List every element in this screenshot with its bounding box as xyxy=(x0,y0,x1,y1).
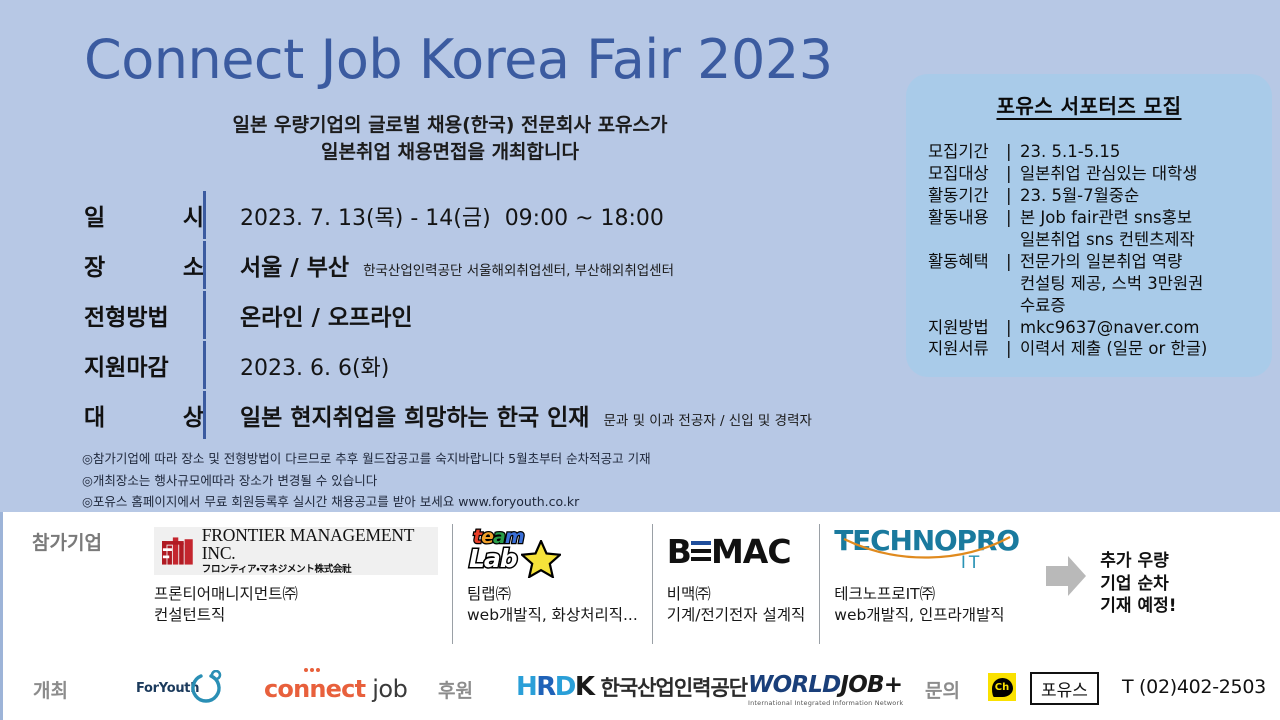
supporters-row: 지원서류 | 이력서 제출 (일문 or 한글) xyxy=(928,338,1272,360)
connect-dots-icon xyxy=(304,668,320,672)
connect-text: connect xyxy=(264,675,365,703)
supporters-row: 지원방법 | mkc9637@naver.com xyxy=(928,317,1272,339)
more-line-3: 기재 예정! xyxy=(1100,595,1176,618)
supporters-value: 23. 5.1-5.15 xyxy=(1020,141,1272,163)
detail-target-note: 문과 및 이과 전공자 / 신입 및 경력자 xyxy=(603,409,811,429)
company-role-frontier: 컨설턴트직 xyxy=(154,605,438,626)
company-role-bemac: 기계/전기전자 설계직 xyxy=(667,605,806,626)
bemac-logo: BMAC xyxy=(667,524,806,578)
worldjob-logo[interactable]: WORLDJOB+ International Integrated Infor… xyxy=(748,672,903,707)
event-details-table: 일 시 2023. 7. 13(목) - 14(금) 09:00 ~ 18:00… xyxy=(84,198,884,448)
contact-phone: T (02)402-2503 xyxy=(1122,676,1266,698)
supporters-value: 23. 5월-7월중순 xyxy=(1020,185,1272,207)
supporters-separator: | xyxy=(1006,317,1020,339)
more-line-1: 추가 우량 xyxy=(1100,550,1176,573)
detail-value-method: 온라인 / 오프라인 xyxy=(204,298,413,332)
label-part-b: 상 xyxy=(183,398,204,432)
star-icon xyxy=(521,540,561,578)
contact-label: 문의 xyxy=(925,676,960,703)
supporters-separator: | xyxy=(1006,141,1020,163)
supporters-separator: | xyxy=(1006,185,1020,207)
company-frontier-management[interactable]: FRONTIER MANAGEMENT INC. フロンティア・マネジメント株式… xyxy=(140,524,452,644)
detail-label-deadline: 지원마감 xyxy=(84,348,204,382)
kakao-bubble-glyph: Ch xyxy=(992,678,1013,697)
supporters-value: 일본취업 관심있는 대학생 xyxy=(1020,163,1272,185)
detail-place: 서울 / 부산 xyxy=(240,248,349,282)
subtitle-line-2: 일본취업 채용면접을 개최합니다 xyxy=(0,139,900,166)
subtitle: 일본 우량기업의 글로벌 채용(한국) 전문회사 포유스가 일본취업 채용면접을… xyxy=(0,112,900,166)
connect-job-logo[interactable]: connect job xyxy=(264,675,407,703)
supporters-key: 모집기간 xyxy=(928,141,1006,163)
right-arrow-icon xyxy=(1042,554,1088,614)
supporters-separator: | xyxy=(1006,163,1020,185)
hrdk-logo-text: 한국산업인력공단 xyxy=(601,672,748,702)
supporters-separator: | xyxy=(1006,251,1020,273)
channel-name-badge[interactable]: 포유스 xyxy=(1030,672,1099,705)
detail-time: 09:00 ~ 18:00 xyxy=(505,206,664,231)
company-technopro-it[interactable]: TECHNOPRO IT 테크노프로IT㈜ web개발직, 인프라개발직 xyxy=(819,524,1026,644)
company-role-technopro: web개발직, 인프라개발직 xyxy=(834,605,1012,626)
label-part-b: 시 xyxy=(183,198,204,232)
detail-row-target: 대 상 일본 현지취업을 희망하는 한국 인재 문과 및 이과 전공자 / 신입… xyxy=(84,398,884,448)
frontier-mark-icon xyxy=(162,536,193,566)
supporters-title: 포유스 서포터즈 모집 xyxy=(906,90,1272,119)
supporters-key: 활동내용 xyxy=(928,207,1006,229)
footnote-2: ◎개최장소는 행사규모에따라 장소가 변경될 수 있습니다 xyxy=(82,470,651,492)
detail-label-place: 장 소 xyxy=(84,248,204,282)
page-title: Connect Job Korea Fair 2023 xyxy=(84,28,833,91)
company-name-frontier: 프론티어매니지먼트㈜ xyxy=(154,584,438,605)
connect-logo-text: connect xyxy=(264,675,365,703)
supporters-email[interactable]: mkc9637@naver.com xyxy=(1020,317,1272,339)
label-part-b: 소 xyxy=(183,248,204,282)
bemac-logo-text: BMAC xyxy=(667,532,791,571)
detail-date: 2023. 7. 13(목) - 14(금) xyxy=(240,200,491,232)
detail-method: 온라인 / 오프라인 xyxy=(240,298,413,332)
detail-label-date: 일 시 xyxy=(84,198,204,232)
job-logo-text: job xyxy=(372,675,407,703)
supporters-value-cont: 일본취업 sns 컨텐츠제작 xyxy=(928,229,1272,251)
teamlab-logo-text-lab: Lab xyxy=(469,544,517,573)
supporters-row: 활동혜택 | 전문가의 일본취업 역량 xyxy=(928,251,1272,273)
supporters-separator: | xyxy=(1006,207,1020,229)
sponsor-bar: 개최 ForYouth connect job 후원 HRDK 한국산업인력공단… xyxy=(0,660,1280,716)
row-divider xyxy=(203,241,206,289)
company-teamlab[interactable]: team Lab 팀랩㈜ web개발직, 화상처리직... xyxy=(452,524,652,644)
kakao-channel-icon[interactable]: Ch xyxy=(988,673,1016,701)
participating-companies-list: FRONTIER MANAGEMENT INC. フロンティア・マネジメント株式… xyxy=(140,524,1140,644)
row-divider xyxy=(203,391,206,439)
supporters-key: 활동기간 xyxy=(928,185,1006,207)
supporters-key: 활동혜택 xyxy=(928,251,1006,273)
detail-place-note: 한국산업인력공단 서울해외취업센터, 부산해외취업센터 xyxy=(363,259,674,279)
frontier-management-logo: FRONTIER MANAGEMENT INC. フロンティア・マネジメント株式… xyxy=(154,524,438,578)
support-label: 후원 xyxy=(438,676,473,703)
more-line-2: 기업 순차 xyxy=(1100,573,1176,596)
foryouth-circle-icon xyxy=(189,670,223,706)
supporters-row: 모집대상 | 일본취업 관심있는 대학생 xyxy=(928,163,1272,185)
frontier-logo-text-jp: フロンティア・マネジメント株式会社 xyxy=(202,565,428,575)
supporters-value-cont: 컨설팅 제공, 스벅 3만원권 xyxy=(928,273,1272,295)
supporters-key: 지원방법 xyxy=(928,317,1006,339)
supporters-row: 모집기간 | 23. 5.1-5.15 xyxy=(928,141,1272,163)
more-companies-text: 추가 우량 기업 순차 기재 예정! xyxy=(1100,550,1176,619)
hrdk-logo-mark: HRDK xyxy=(516,672,594,702)
label-part-a: 일 xyxy=(84,198,105,232)
supporters-key: 지원서류 xyxy=(928,338,1006,360)
detail-deadline: 2023. 6. 6(화) xyxy=(240,350,389,382)
detail-value-place: 서울 / 부산 한국산업인력공단 서울해외취업센터, 부산해외취업센터 xyxy=(204,248,674,282)
subtitle-line-1: 일본 우량기업의 글로벌 채용(한국) 전문회사 포유스가 xyxy=(0,112,900,139)
company-role-teamlab: web개발직, 화상처리직... xyxy=(467,605,638,626)
detail-target: 일본 현지취업을 희망하는 한국 인재 xyxy=(240,398,589,432)
company-name-bemac: 비맥㈜ xyxy=(667,584,806,605)
detail-label-method: 전형방법 xyxy=(84,298,204,332)
label-part-a: 장 xyxy=(84,248,105,282)
company-name-technopro: 테크노프로IT㈜ xyxy=(834,584,1012,605)
supporters-separator: | xyxy=(1006,338,1020,360)
technopro-it-logo: TECHNOPRO IT xyxy=(834,524,1012,578)
label-part-a: 대 xyxy=(84,398,105,432)
worldjob-logo-subtitle: International Integrated Information Net… xyxy=(748,699,903,707)
row-divider xyxy=(203,341,206,389)
supporters-list: 모집기간 | 23. 5.1-5.15 모집대상 | 일본취업 관심있는 대학생… xyxy=(906,141,1272,360)
row-divider xyxy=(203,191,206,239)
poster-root: Connect Job Korea Fair 2023 일본 우량기업의 글로벌… xyxy=(0,0,1280,720)
company-name-teamlab: 팀랩㈜ xyxy=(467,584,638,605)
footnote-3: ◎포유스 홈페이지에서 무료 회원등록후 실시간 채용공고를 받아 보세요 ww… xyxy=(82,491,651,513)
supporters-value: 본 Job fair관련 sns홍보 xyxy=(1020,207,1272,229)
host-label: 개최 xyxy=(33,676,68,703)
foryouth-logo[interactable]: ForYouth xyxy=(136,670,223,706)
supporters-value-cont: 수료증 xyxy=(928,295,1272,317)
company-bemac[interactable]: BMAC 비맥㈜ 기계/전기전자 설계직 xyxy=(652,524,820,644)
swoosh-icon xyxy=(842,535,1012,561)
frontier-logo-text-en: FRONTIER MANAGEMENT INC. xyxy=(202,527,428,562)
technopro-logo-text-it: IT xyxy=(961,553,982,573)
worldjob-logo-mark: WORLDJOB+ xyxy=(748,672,903,698)
detail-value-target: 일본 현지취업을 희망하는 한국 인재 문과 및 이과 전공자 / 신입 및 경… xyxy=(204,398,812,432)
supporters-row: 활동기간 | 23. 5월-7월중순 xyxy=(928,185,1272,207)
participating-companies-label: 참가기업 xyxy=(32,528,102,555)
hero-panel: Connect Job Korea Fair 2023 일본 우량기업의 글로벌… xyxy=(0,0,1280,512)
row-divider xyxy=(203,291,206,339)
detail-label-target: 대 상 xyxy=(84,398,204,432)
detail-value-deadline: 2023. 6. 6(화) xyxy=(204,350,389,382)
footnote-1: ◎참가기업에 따라 장소 및 전형방법이 다르므로 추후 월드잡공고를 숙지바랍… xyxy=(82,448,651,470)
bemac-e-glyph xyxy=(691,537,711,565)
supporters-row: 활동내용 | 본 Job fair관련 sns홍보 xyxy=(928,207,1272,229)
supporters-key: 모집대상 xyxy=(928,163,1006,185)
supporters-recruit-box: 포유스 서포터즈 모집 모집기간 | 23. 5.1-5.15 모집대상 | 일… xyxy=(906,74,1272,377)
teamlab-logo: team Lab xyxy=(467,524,638,578)
more-companies-block: 추가 우량 기업 순차 기재 예정! xyxy=(1026,524,1176,644)
supporters-value: 전문가의 일본취업 역량 xyxy=(1020,251,1272,273)
detail-value-date: 2023. 7. 13(목) - 14(금) 09:00 ~ 18:00 xyxy=(204,200,664,232)
hrdk-logo[interactable]: HRDK 한국산업인력공단 xyxy=(516,672,747,702)
supporters-value: 이력서 제출 (일문 or 한글) xyxy=(1020,338,1272,360)
footnotes: ◎참가기업에 따라 장소 및 전형방법이 다르므로 추후 월드잡공고를 숙지바랍… xyxy=(82,448,651,513)
